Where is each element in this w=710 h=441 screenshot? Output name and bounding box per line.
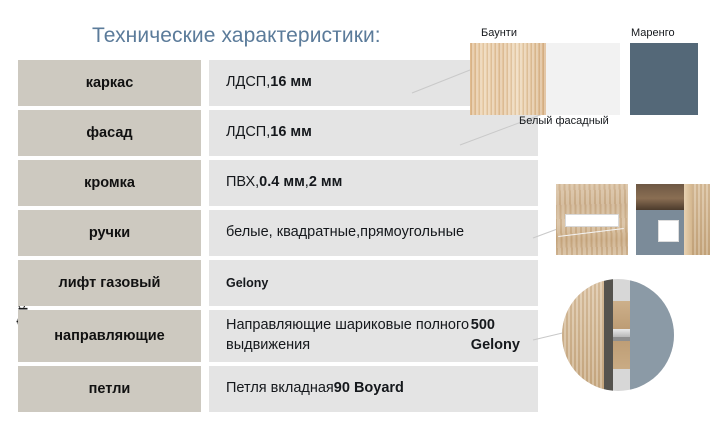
color-swatch-white: [546, 43, 620, 115]
table-row: каркас ЛДСП, 16 мм: [18, 60, 538, 106]
spec-value-text: ЛДСП,: [226, 123, 270, 143]
spec-label: петли: [18, 366, 201, 412]
spec-value: Направляющие шариковые полного выдвижени…: [209, 310, 538, 362]
table-row: ручки белые, квадратные,прямоугольные: [18, 210, 538, 256]
handle-square-shape: [659, 221, 678, 241]
spec-value-text: Петля вкладная: [226, 379, 334, 399]
spec-value-text: ПВХ,: [226, 173, 259, 193]
cabinet-side-shape: [692, 184, 710, 255]
spec-value-text: ЛДСП,: [226, 73, 270, 93]
spec-value-text: Gelony: [226, 275, 268, 292]
photo-highlight-line: [558, 228, 624, 237]
spec-value-emphasis: 500 Gelony: [471, 316, 528, 355]
spec-value: ПВХ, 0.4 мм, 2 мм: [209, 160, 538, 206]
spec-label: направляющие: [18, 310, 201, 362]
table-row: кромка ПВХ, 0.4 мм, 2 мм: [18, 160, 538, 206]
color-swatch-baunti: [470, 43, 546, 115]
spec-value: белые, квадратные,прямоугольные: [209, 210, 538, 256]
table-row: петли Петля вкладная 90 Boyard: [18, 366, 538, 412]
swatch-caption-baunti: Баунти: [481, 27, 517, 39]
spec-label: фасад: [18, 110, 201, 156]
spec-value-emphasis: 90 Boyard: [334, 379, 404, 399]
spec-value: Петля вкладная 90 Boyard: [209, 366, 538, 412]
spec-value-text: Направляющие шариковые полного выдвижени…: [226, 316, 471, 355]
spec-value-text: белые, квадратные,прямоугольные: [226, 223, 464, 243]
cabinet-gap-shape: [604, 279, 613, 391]
cabinet-jamb-shape: [684, 184, 692, 255]
spec-value-emphasis-2: 2 мм: [309, 173, 343, 193]
spec-value-emphasis: 0.4 мм: [259, 173, 305, 193]
spec-value-emphasis: 16 мм: [270, 73, 312, 93]
spec-label: ручки: [18, 210, 201, 256]
handle-bar-shape: [566, 215, 618, 226]
handle-rectangular-photo: [556, 184, 628, 255]
spec-value: ЛДСП, 16 мм: [209, 110, 538, 156]
spec-label: лифт газовый: [18, 260, 201, 306]
handle-square-photo: [636, 184, 710, 255]
spec-value: Gelony: [209, 260, 538, 306]
spec-table: каркас ЛДСП, 16 мм фасад ЛДСП, 16 мм кро…: [18, 60, 538, 416]
spec-label: кромка: [18, 160, 201, 206]
color-swatch-marengo: [630, 43, 698, 115]
table-row: направляющие Направляющие шариковые полн…: [18, 310, 538, 362]
door-panel-marengo-shape: [630, 279, 674, 391]
shelf-shape: [636, 184, 684, 210]
drawer-slide-photo: [562, 279, 674, 391]
spec-label: каркас: [18, 60, 201, 106]
swatch-caption-white: Белый фасадный: [519, 115, 609, 127]
spec-value-emphasis: 16 мм: [270, 123, 312, 143]
page-title: Технические характеристики:: [92, 24, 381, 48]
table-row: лифт газовый Gelony: [18, 260, 538, 306]
swatch-caption-marengo: Маренго: [631, 27, 675, 39]
table-row: фасад ЛДСП, 16 мм: [18, 110, 538, 156]
cabinet-panel-shape: [562, 279, 604, 391]
